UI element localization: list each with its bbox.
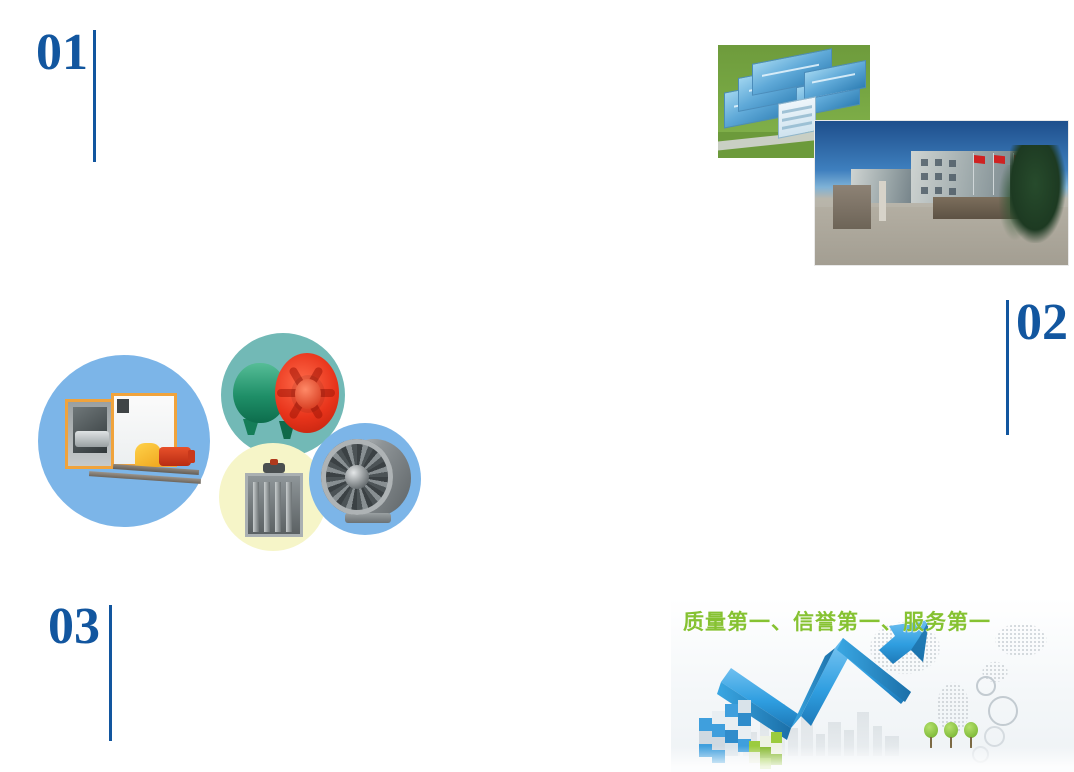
red-flag-icon: [974, 155, 985, 164]
banner-reflection: [671, 746, 1074, 772]
flag-pole: [973, 153, 974, 195]
axial-fan-hub: [295, 379, 321, 409]
cabinet-motor: [159, 447, 191, 466]
section-rule-02: [1006, 300, 1009, 435]
product-showcase: [35, 325, 425, 550]
slogan-text: 质量第一、信誉第一、服务第一: [683, 606, 991, 636]
photo-gatehouse: [833, 185, 871, 229]
section-number-03: 03: [48, 601, 100, 653]
section-rule-03: [109, 605, 112, 741]
red-flag-icon: [994, 155, 1005, 164]
section-number-02: 02: [1016, 297, 1068, 349]
product-air-damper-valve: [241, 463, 307, 539]
cabinet-belt-hood: [135, 443, 161, 467]
factory-office-block: [778, 96, 816, 138]
slide-canvas: 01: [0, 0, 1074, 772]
damper-handle: [263, 463, 285, 473]
cabinet-impeller: [75, 431, 109, 447]
flag-pole: [993, 153, 994, 195]
damper-frame: [245, 473, 303, 537]
cabinet-control-panel: [117, 399, 129, 413]
tree-icon: [923, 722, 939, 748]
product-aluminium-axial-fan: [319, 435, 415, 523]
office-building-photo-image: [814, 120, 1069, 266]
photo-post: [879, 181, 886, 221]
product-axial-flow-fan: [231, 347, 341, 445]
tree-icon: [943, 722, 959, 748]
section-rule-01: [93, 30, 96, 162]
product-cabinet-centrifugal-fan: [59, 387, 209, 502]
photo-tree: [1010, 145, 1066, 243]
alufan-hub-cap: [345, 465, 369, 489]
factory-photo-group: [700, 30, 1074, 270]
growth-banner: 质量第一、信誉第一、服务第一: [671, 598, 1074, 772]
section-number-01: 01: [36, 27, 88, 79]
